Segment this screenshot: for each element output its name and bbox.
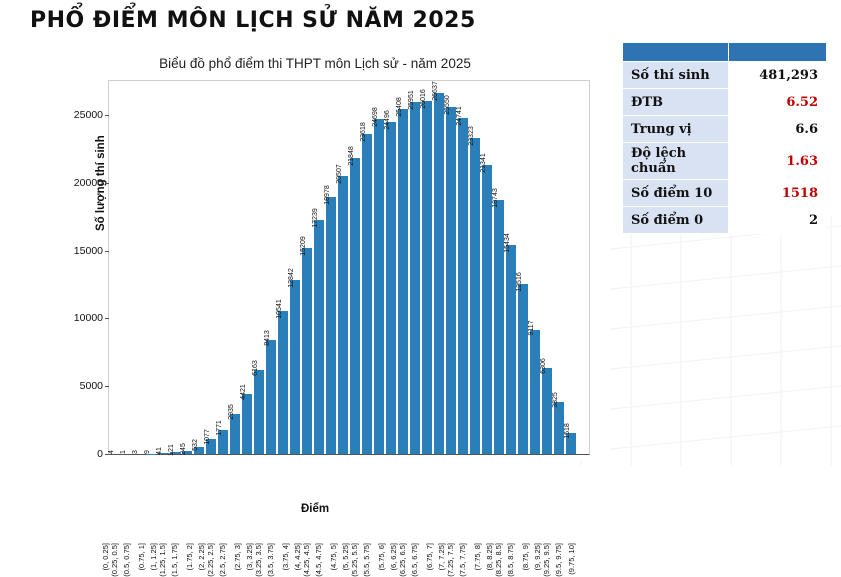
x-axis-tick: (0.25, 0.5] bbox=[121, 459, 133, 539]
x-axis-tick-label: (7.5, 7.75] bbox=[458, 543, 467, 577]
bar-value-label: 18743 bbox=[492, 188, 499, 207]
x-axis-tick-label: (2.75, 3] bbox=[233, 543, 242, 571]
x-axis-tick: (4.5, 4.75] bbox=[325, 459, 337, 539]
bar-value-label: 121 bbox=[168, 445, 175, 457]
bar-slot[interactable]: 21341 bbox=[481, 81, 493, 454]
bar-slot[interactable]: 25408 bbox=[397, 81, 409, 454]
x-axis-tick: (0.75, 1] bbox=[145, 459, 157, 539]
bar-value-label: 24496 bbox=[384, 110, 391, 129]
bar-slot[interactable]: 41 bbox=[157, 81, 169, 454]
bar[interactable]: 4421 bbox=[242, 394, 251, 454]
x-axis-tick-label: (7, 7.25] bbox=[437, 543, 446, 571]
x-axis-tick-label: (4, 4.25] bbox=[293, 543, 302, 571]
bar-slot[interactable]: 9 bbox=[145, 81, 157, 454]
bar-value-label: 24698 bbox=[372, 107, 379, 126]
x-axis-tick: (2.25, 2.5] bbox=[217, 459, 229, 539]
x-axis-tick-label: (0, 0.25] bbox=[101, 543, 110, 571]
bar-value-label: 6306 bbox=[540, 359, 547, 375]
bar[interactable]: 3825 bbox=[554, 402, 563, 454]
table-row: Số điểm 02 bbox=[623, 207, 827, 234]
x-axis-tick-label: (1.25, 1.5] bbox=[158, 543, 167, 577]
bar-value-label: 15209 bbox=[300, 236, 307, 255]
x-axis-tick-label: (6.75, 7] bbox=[425, 543, 434, 571]
table-row: Số thí sinh481,293 bbox=[623, 62, 827, 89]
bar-value-label: 9117 bbox=[528, 321, 535, 336]
bar-value-label: 21341 bbox=[480, 153, 487, 172]
bar-slot[interactable]: 26637 bbox=[433, 81, 445, 454]
x-axis-tick: (7.5, 7.75] bbox=[469, 459, 481, 539]
bar-value-label: 25550 bbox=[444, 96, 451, 115]
stat-label: ĐTB bbox=[623, 89, 729, 116]
stat-label: Số điểm 0 bbox=[623, 207, 729, 234]
x-axis-tick-label: (6.5, 6.75] bbox=[410, 543, 419, 577]
bar-value-label: 8413 bbox=[264, 330, 271, 346]
bar[interactable]: 9117 bbox=[530, 330, 539, 454]
x-axis-tick-label: (7.25, 7.5] bbox=[446, 543, 455, 577]
x-axis-tick: (5.75, 6] bbox=[385, 459, 397, 539]
header-cell-left bbox=[623, 43, 729, 62]
x-axis-tick: (4.25, 4.5] bbox=[313, 459, 325, 539]
x-axis-tick: (1.5, 1.75] bbox=[181, 459, 193, 539]
bar-value-label: 23618 bbox=[360, 122, 367, 141]
bar[interactable]: 1771 bbox=[218, 430, 227, 454]
x-axis-tick-label: (3, 3.25] bbox=[245, 543, 254, 571]
x-axis-tick: (4.75, 5] bbox=[337, 459, 349, 539]
bar[interactable]: 532 bbox=[194, 447, 203, 454]
x-axis-tick-label: (8.25, 8.5] bbox=[494, 543, 503, 577]
bar-slot[interactable]: 24496 bbox=[385, 81, 397, 454]
bar[interactable]: 21341 bbox=[482, 165, 491, 454]
bar-value-label: 20507 bbox=[336, 164, 343, 183]
bar[interactable]: 6163 bbox=[254, 370, 263, 454]
bar-value-label: 18978 bbox=[324, 185, 331, 204]
bar[interactable]: 24496 bbox=[386, 122, 395, 454]
bar[interactable]: 41 bbox=[158, 453, 167, 454]
x-axis-tick: (3.25, 3.5] bbox=[265, 459, 277, 539]
bar-slot[interactable]: 8413 bbox=[265, 81, 277, 454]
y-axis-tick-label: 20000 bbox=[74, 177, 103, 189]
bar[interactable]: 23618 bbox=[362, 134, 371, 454]
x-axis-tick-label: (9, 9.25] bbox=[533, 543, 542, 571]
stat-value: 6.52 bbox=[728, 89, 826, 116]
bar-slot[interactable]: 245 bbox=[181, 81, 193, 454]
stat-label: Độ lệch chuẩn bbox=[623, 143, 729, 180]
x-axis-tick-label: (2.5, 2.75] bbox=[218, 543, 227, 577]
bar-slot[interactable]: 23618 bbox=[361, 81, 373, 454]
x-axis-tick: (6.25, 6.5] bbox=[409, 459, 421, 539]
bar-value-label: 532 bbox=[192, 439, 199, 451]
x-axis-tick: (3, 3.25] bbox=[253, 459, 265, 539]
x-axis-tick-label: (8.75, 9] bbox=[521, 543, 530, 571]
bar[interactable]: 15209 bbox=[302, 248, 311, 454]
bar[interactable]: 12842 bbox=[290, 280, 299, 454]
bar[interactable]: 26637 bbox=[434, 93, 443, 454]
x-axis-tick-label: (8, 8.25] bbox=[485, 543, 494, 571]
bar-value-label: 3 bbox=[132, 450, 139, 454]
bar-value-label: 12516 bbox=[516, 273, 523, 292]
x-axis-tick: (9, 9.25] bbox=[541, 459, 553, 539]
bar[interactable]: 15434 bbox=[506, 245, 515, 454]
bar-value-label: 4421 bbox=[240, 384, 247, 400]
bar-slot[interactable]: 4 bbox=[109, 81, 121, 454]
table-row: ĐTB6.52 bbox=[623, 89, 827, 116]
bar-slot[interactable]: 12516 bbox=[517, 81, 529, 454]
bar-value-label: 24741 bbox=[456, 107, 463, 126]
x-axis-tick-label: (5.75, 6] bbox=[377, 543, 386, 571]
bar[interactable]: 1077 bbox=[206, 439, 215, 454]
x-axis-tick: (8.5, 8.75] bbox=[517, 459, 529, 539]
bar[interactable]: 24741 bbox=[458, 118, 467, 454]
bar-value-label: 21848 bbox=[348, 146, 355, 165]
bar-slot[interactable]: 1 bbox=[121, 81, 133, 454]
x-axis-tick: (1.75, 2] bbox=[193, 459, 205, 539]
x-axis-tick: (8, 8.25] bbox=[493, 459, 505, 539]
x-axis-tick-label: (9.5, 9.75] bbox=[554, 543, 563, 577]
bar-slot[interactable]: 3825 bbox=[553, 81, 565, 454]
x-axis-tick: (2.5, 2.75] bbox=[229, 459, 241, 539]
x-axis-tick-label: (1.75, 2] bbox=[185, 543, 194, 571]
bar-slot[interactable]: 6163 bbox=[253, 81, 265, 454]
bar-value-label: 6163 bbox=[252, 361, 259, 377]
table-row: Số điểm 101518 bbox=[623, 180, 827, 207]
bar-slot[interactable]: 25951 bbox=[409, 81, 421, 454]
x-axis-tick-label: (8.5, 8.75] bbox=[506, 543, 515, 577]
y-axis-tick-label: 5000 bbox=[80, 380, 103, 392]
y-axis-tick-label: 0 bbox=[97, 448, 103, 460]
bar-value-label: 17239 bbox=[312, 208, 319, 227]
bar[interactable]: 1518 bbox=[566, 433, 575, 454]
bar[interactable]: 18978 bbox=[326, 197, 335, 454]
x-axis-tick: (7.75, 8] bbox=[481, 459, 493, 539]
x-axis-tick: (2.75, 3] bbox=[241, 459, 253, 539]
bar-slot[interactable] bbox=[577, 81, 589, 454]
x-axis-tick-label: (9.75, 10] bbox=[567, 543, 576, 575]
x-axis-tick: (8.25, 8.5] bbox=[505, 459, 517, 539]
bar[interactable]: 24698 bbox=[374, 119, 383, 454]
page-title: PHỔ ĐIỂM MÔN LỊCH SỬ NĂM 2025 bbox=[30, 8, 476, 33]
bar-value-label: 10541 bbox=[276, 299, 283, 318]
bar-slot[interactable]: 17239 bbox=[313, 81, 325, 454]
bar-value-label: 1 bbox=[120, 450, 127, 454]
bar[interactable]: 121 bbox=[170, 452, 179, 454]
bar[interactable]: 245 bbox=[182, 451, 191, 454]
bar-value-label: 25951 bbox=[408, 90, 415, 109]
x-axis-tick: (9.25, 9.5] bbox=[553, 459, 565, 539]
x-axis-tick-label: (3.25, 3.5] bbox=[254, 543, 263, 577]
x-axis-tick-label: (5.25, 5.5] bbox=[350, 543, 359, 577]
x-axis-tick: (8.75, 9] bbox=[529, 459, 541, 539]
bar[interactable]: 20507 bbox=[338, 176, 347, 454]
bar-slot[interactable]: 1771 bbox=[217, 81, 229, 454]
stat-label: Số thí sinh bbox=[623, 62, 729, 89]
x-axis-tick-label: (9.25, 9.5] bbox=[542, 543, 551, 577]
table-row: Độ lệch chuẩn1.63 bbox=[623, 143, 827, 180]
plot-area: Số lượng thí sinh 0500010000150002000025… bbox=[109, 81, 589, 454]
x-axis-tick-label: (6.25, 6.5] bbox=[398, 543, 407, 577]
x-axis-tick: (2, 2.25] bbox=[205, 459, 217, 539]
bar[interactable]: 12516 bbox=[518, 284, 527, 454]
x-axis-tick-label: (4.75, 5] bbox=[329, 543, 338, 571]
x-axis-tick: (1, 1.25] bbox=[157, 459, 169, 539]
stat-value: 2 bbox=[728, 207, 826, 234]
x-axis-tick: (5.25, 5.5] bbox=[361, 459, 373, 539]
stat-value: 6.6 bbox=[728, 116, 826, 143]
bar[interactable]: 17239 bbox=[314, 220, 323, 454]
x-axis-tick: (9.5, 9.75] bbox=[565, 459, 577, 539]
bar-value-label: 26016 bbox=[420, 89, 427, 108]
bar[interactable]: 21848 bbox=[350, 158, 359, 454]
bar[interactable]: 10541 bbox=[278, 311, 287, 454]
x-axis-tick-label: (3.5, 3.75] bbox=[266, 543, 275, 577]
header-cell-right bbox=[728, 43, 826, 62]
x-axis-tick: (4, 4.25] bbox=[301, 459, 313, 539]
bar[interactable]: 25550 bbox=[446, 107, 455, 454]
x-axis-tick: (7.25, 7.5] bbox=[457, 459, 469, 539]
bar-slot[interactable]: 25550 bbox=[445, 81, 457, 454]
bar-value-label: 9 bbox=[144, 450, 151, 454]
x-axis-tick-label: (1.5, 1.75] bbox=[170, 543, 179, 577]
bar[interactable]: 8413 bbox=[266, 340, 275, 454]
bar-value-label: 41 bbox=[156, 448, 163, 456]
bar-slot[interactable]: 9117 bbox=[529, 81, 541, 454]
bar-value-label: 23323 bbox=[468, 126, 475, 145]
bar[interactable]: 25408 bbox=[398, 109, 407, 454]
stat-label: Số điểm 10 bbox=[623, 180, 729, 207]
x-axis-tick: (6.5, 6.75] bbox=[421, 459, 433, 539]
x-axis-tick-label: (5, 5.25] bbox=[341, 543, 350, 571]
bar-value-label: 1771 bbox=[216, 420, 223, 436]
y-axis-tick-label: 15000 bbox=[74, 245, 103, 257]
bar-slot[interactable]: 18978 bbox=[325, 81, 337, 454]
bar-slot[interactable]: 121 bbox=[169, 81, 181, 454]
stat-label: Trung vị bbox=[623, 116, 729, 143]
bar-slot[interactable]: 3 bbox=[133, 81, 145, 454]
x-axis-tick-label: (2, 2.25] bbox=[197, 543, 206, 571]
bar-slot[interactable]: 20507 bbox=[337, 81, 349, 454]
x-axis-tick-label: (7.75, 8] bbox=[473, 543, 482, 571]
bar-value-label: 25408 bbox=[396, 98, 403, 117]
x-axis-tick-label: (0.75, 1] bbox=[137, 543, 146, 571]
x-axis-tick: (5, 5.25] bbox=[349, 459, 361, 539]
y-axis-tick-label: 25000 bbox=[74, 109, 103, 121]
x-axis-tick: (0, 0.25] bbox=[109, 459, 121, 539]
bar[interactable]: 26016 bbox=[422, 101, 431, 454]
x-axis-tick: (6.75, 7] bbox=[433, 459, 445, 539]
bar-slot[interactable]: 15209 bbox=[301, 81, 313, 454]
x-axis-tick: (3.75, 4] bbox=[289, 459, 301, 539]
x-axis-tick: (7, 7.25] bbox=[445, 459, 457, 539]
x-axis-tick-label: (5.5, 5.75] bbox=[362, 543, 371, 577]
bar-slot[interactable]: 1077 bbox=[205, 81, 217, 454]
bar-slot[interactable]: 1518 bbox=[565, 81, 577, 454]
y-axis-tick-mark bbox=[105, 454, 109, 455]
x-axis-tick: (9.75, 10] bbox=[577, 459, 589, 539]
x-axis-tick-label: (1, 1.25] bbox=[149, 543, 158, 571]
bar-value-label: 26637 bbox=[432, 81, 439, 100]
x-axis-tick: (1.25, 1.5] bbox=[169, 459, 181, 539]
x-axis-tick: (3.5, 3.75] bbox=[277, 459, 289, 539]
x-axis-tick-label: (4.25, 4.5] bbox=[302, 543, 311, 577]
y-axis-tick-label: 10000 bbox=[74, 312, 103, 324]
bar-value-label: 4 bbox=[108, 450, 115, 454]
stat-value: 481,293 bbox=[728, 62, 826, 89]
bar[interactable]: 6306 bbox=[542, 368, 551, 454]
x-axis-tick-label: (3.75, 4] bbox=[281, 543, 290, 571]
stat-value: 1518 bbox=[728, 180, 826, 207]
x-axis-tick: (5.5, 5.75] bbox=[373, 459, 385, 539]
x-axis-label: Điểm bbox=[20, 503, 610, 515]
bar[interactable]: 18743 bbox=[494, 200, 503, 454]
x-axis-tick: (6, 6.25] bbox=[397, 459, 409, 539]
bar-slot[interactable]: 4421 bbox=[241, 81, 253, 454]
x-axis-tick-label: (0.25, 0.5] bbox=[110, 543, 119, 577]
x-axis-tick: (0.5, 0.75] bbox=[133, 459, 145, 539]
summary-stats-table: Số thí sinh481,293ĐTB6.52Trung vị6.6Độ l… bbox=[622, 42, 827, 234]
bar-value-label: 1518 bbox=[564, 424, 571, 440]
bar[interactable]: 25951 bbox=[410, 102, 419, 454]
bar-slot[interactable]: 532 bbox=[193, 81, 205, 454]
table-header-row bbox=[623, 43, 827, 62]
stat-value: 1.63 bbox=[728, 143, 826, 180]
bar[interactable]: 2935 bbox=[230, 414, 239, 454]
bar[interactable]: 23323 bbox=[470, 138, 479, 454]
table-row: Trung vị6.6 bbox=[623, 116, 827, 143]
x-axis-tick-label: (2.25, 2.5] bbox=[206, 543, 215, 577]
bar-slot[interactable]: 15434 bbox=[505, 81, 517, 454]
bar-value-label: 15434 bbox=[504, 233, 511, 252]
bar-value-label: 3825 bbox=[552, 392, 559, 408]
bar-slot[interactable]: 18743 bbox=[493, 81, 505, 454]
bar-slot[interactable]: 23323 bbox=[469, 81, 481, 454]
x-axis-tick-label: (4.5, 4.75] bbox=[314, 543, 323, 577]
bar-value-label: 1077 bbox=[204, 430, 211, 446]
bar-value-label: 2935 bbox=[228, 404, 235, 420]
x-axis-tick-label: (0.5, 0.75] bbox=[122, 543, 131, 577]
x-axis-tick-label: (6, 6.25] bbox=[389, 543, 398, 571]
bar-slot[interactable]: 24698 bbox=[373, 81, 385, 454]
bar-value-label: 12842 bbox=[288, 268, 295, 287]
bar-slot[interactable]: 26016 bbox=[421, 81, 433, 454]
bar-value-label: 245 bbox=[180, 443, 187, 455]
chart-title: Biểu đồ phổ điểm thi THPT môn Lịch sử - … bbox=[20, 56, 610, 71]
bar-slot[interactable]: 12842 bbox=[289, 81, 301, 454]
chart-panel: Biểu đồ phổ điểm thi THPT môn Lịch sử - … bbox=[20, 48, 610, 460]
